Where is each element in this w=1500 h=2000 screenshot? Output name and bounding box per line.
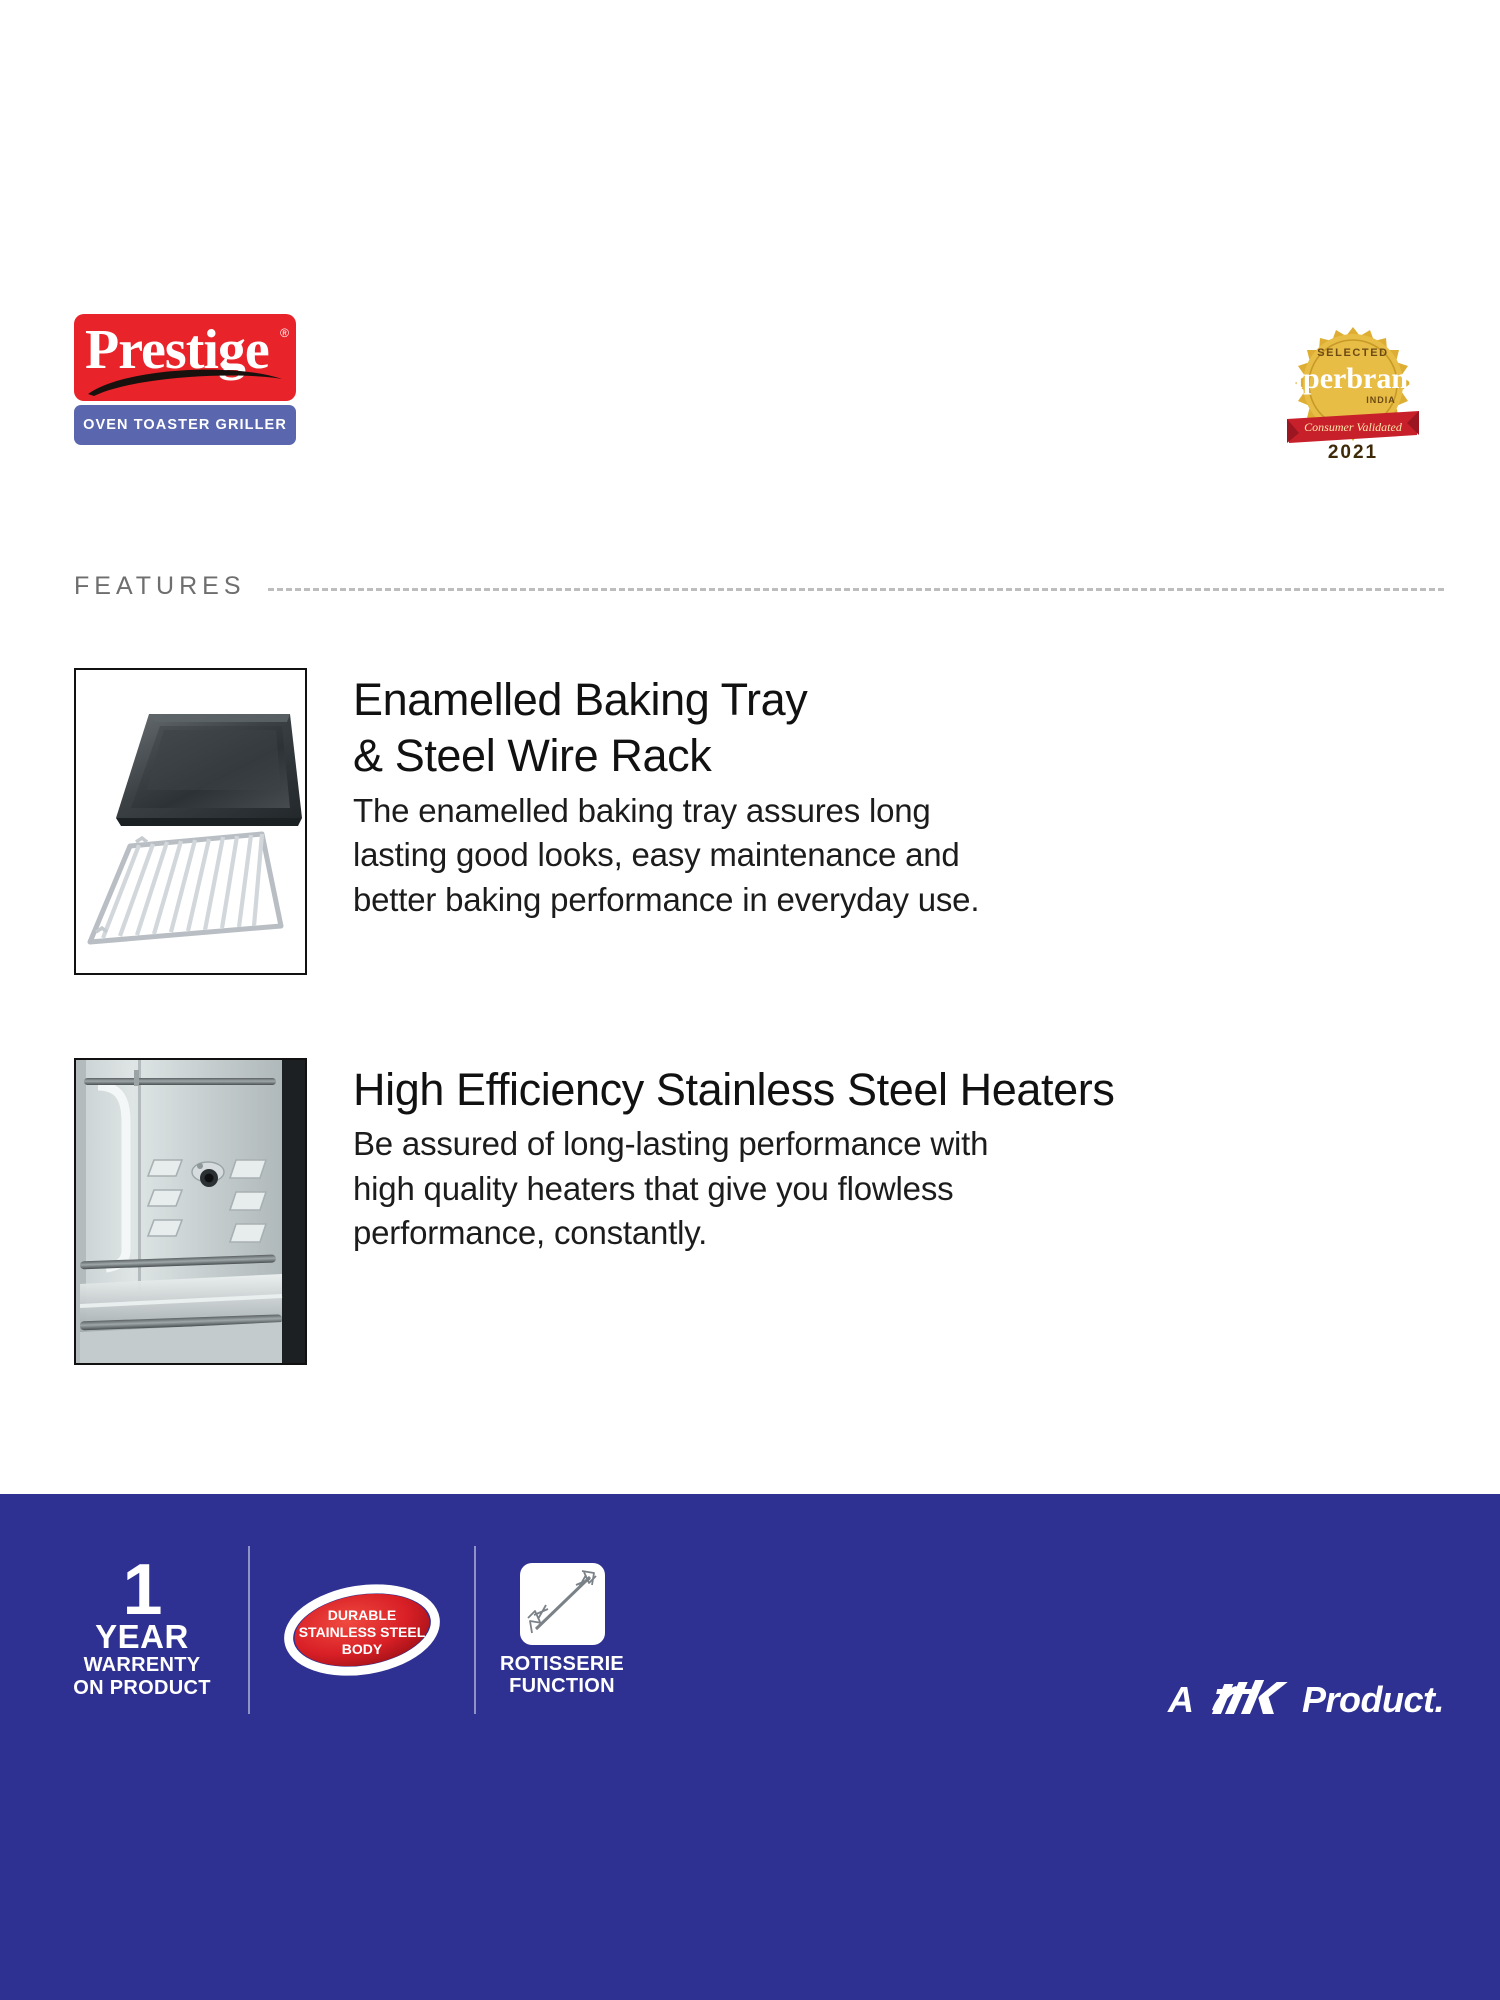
- feature-item: High Efficiency Stainless Steel Heaters …: [74, 1058, 1114, 1365]
- features-label: FEATURES: [74, 572, 246, 601]
- prestige-logo-plate: Prestige ®: [74, 314, 296, 401]
- ttk-prefix: A: [1168, 1679, 1194, 1721]
- features-divider: [268, 588, 1445, 591]
- seal-year: 2021: [1328, 442, 1378, 463]
- seal-top-text: SELECTED: [1317, 347, 1388, 359]
- stainless-steel-body-badge: DURABLE STAINLESS STEEL BODY: [276, 1540, 448, 1720]
- warranty-period: YEAR: [95, 1620, 189, 1655]
- feature-description: Be assured of long-lasting performance w…: [353, 1122, 1114, 1256]
- prestige-swoosh-icon: [86, 363, 286, 397]
- feature-text-block: Enamelled Baking Tray & Steel Wire Rack …: [353, 668, 979, 922]
- rotisserie-icon-tile: [520, 1563, 605, 1645]
- warranty-badge: 1 YEAR WARRENTY ON PRODUCT: [62, 1540, 222, 1720]
- badge-divider: [474, 1546, 476, 1714]
- warranty-subtext: WARRENTY ON PRODUCT: [73, 1654, 210, 1699]
- badge-divider: [248, 1546, 250, 1714]
- superbrands-seal: SELECTED Superbrands INDIA Consumer Vali…: [1283, 325, 1423, 468]
- product-category-label: OVEN TOASTER GRILLER: [83, 417, 287, 433]
- stainless-steel-body-emblem: DURABLE STAINLESS STEEL BODY: [276, 1580, 448, 1680]
- prestige-logo: Prestige ® OVEN TOASTER GRILLER: [74, 314, 296, 445]
- features-heading-row: FEATURES: [74, 566, 1444, 606]
- feature-text-block: High Efficiency Stainless Steel Heaters …: [353, 1058, 1114, 1256]
- ttk-suffix: Product.: [1302, 1679, 1444, 1721]
- seal-brand-name: Superbrands: [1283, 362, 1423, 395]
- steel-line-2: STAINLESS STEEL: [299, 1624, 426, 1640]
- steel-line-1: DURABLE: [328, 1607, 396, 1623]
- product-category-plate: OVEN TOASTER GRILLER: [74, 405, 296, 445]
- feature-item: Enamelled Baking Tray & Steel Wire Rack …: [74, 668, 979, 975]
- feature-title: High Efficiency Stainless Steel Heaters: [353, 1062, 1114, 1118]
- steel-line-3: BODY: [342, 1641, 383, 1657]
- warranty-number: 1: [122, 1561, 161, 1620]
- registered-trademark-icon: ®: [280, 326, 289, 340]
- seal-ribbon-text: Consumer Validated: [1304, 420, 1403, 434]
- feature-title: Enamelled Baking Tray & Steel Wire Rack: [353, 672, 979, 785]
- feature-description: The enamelled baking tray assures long l…: [353, 789, 979, 923]
- footer-badge-group: 1 YEAR WARRENTY ON PRODUCT DUR: [62, 1540, 622, 1720]
- ttk-product-mark: A Product.: [1168, 1676, 1444, 1724]
- ttk-logo-icon: [1206, 1676, 1292, 1724]
- stainless-steel-heaters-image: [74, 1058, 307, 1365]
- footer-band: 1 YEAR WARRENTY ON PRODUCT DUR: [0, 1494, 1500, 2000]
- baking-tray-wire-rack-image: [74, 668, 307, 975]
- rotisserie-label: ROTISSERIE FUNCTION: [500, 1653, 624, 1698]
- seal-country: INDIA: [1366, 395, 1396, 405]
- page-header: Prestige ® OVEN TOASTER GRILLER SELECTED…: [0, 0, 1500, 500]
- rotisserie-badge: ROTISSERIE FUNCTION: [502, 1540, 622, 1720]
